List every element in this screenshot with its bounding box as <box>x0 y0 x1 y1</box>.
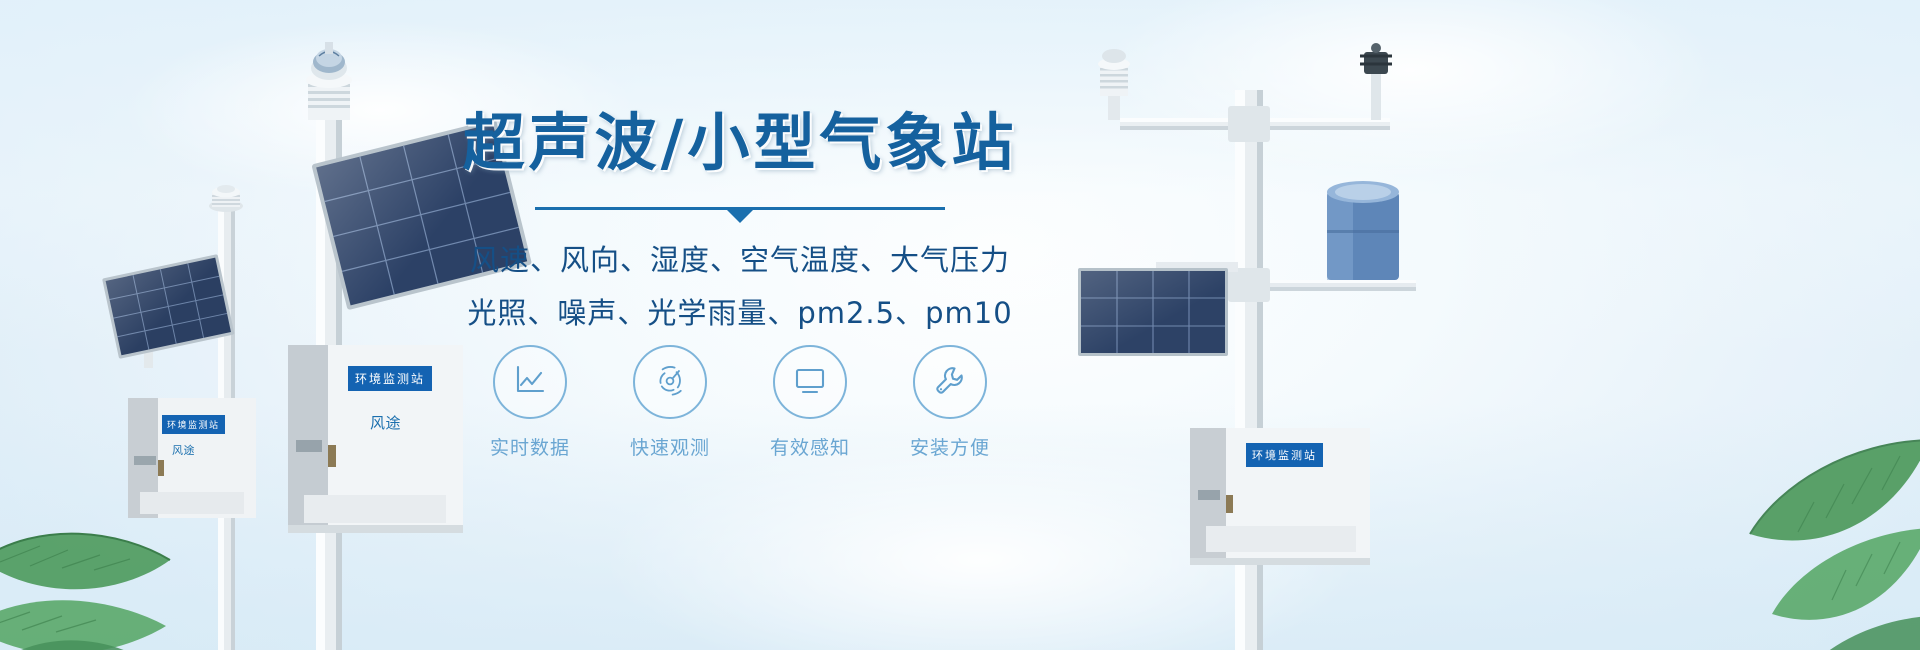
leaf-decoration-left <box>0 410 270 650</box>
product-banner: 环境监测站 风途 <box>0 0 1920 650</box>
cabinet-label: 环境监测站 <box>1246 443 1323 467</box>
feature-item-easy-installation[interactable]: 安装方便 <box>902 345 998 460</box>
weather-station-small-left: 环境监测站 风途 <box>100 170 310 650</box>
monitor-screen-icon <box>790 360 830 405</box>
cabinet-label: 环境监测站 <box>162 415 225 434</box>
feature-item-realtime-data[interactable]: 实时数据 <box>482 345 578 460</box>
subtitle-line-2: 光照、噪声、光学雨量、pm2.5、pm10 <box>440 289 1040 338</box>
feature-label: 有效感知 <box>770 433 850 460</box>
feature-icon-circle <box>773 345 847 419</box>
feature-icon-circle <box>913 345 987 419</box>
page-title: 超声波/小型气象站 <box>440 108 1040 177</box>
banner-copy: 超声波/小型气象站 风速、风向、湿度、空气温度、大气压力 光照、噪声、光学雨量、… <box>440 108 1040 338</box>
cabinet-label: 环境监测站 <box>348 366 432 391</box>
cloud-decoration <box>600 430 1360 650</box>
title-divider <box>535 207 945 210</box>
brand-label: 风途 <box>172 442 195 458</box>
weather-station-large-right: 环境监测站 <box>1060 40 1440 650</box>
cloud-decoration <box>1100 0 1720 180</box>
feature-item-fast-observation[interactable]: 快速观测 <box>622 345 718 460</box>
brand-label: 风途 <box>370 412 401 433</box>
leaf-decoration-right <box>1600 380 1920 650</box>
feature-item-effective-sensing[interactable]: 有效感知 <box>762 345 858 460</box>
feature-label: 安装方便 <box>910 433 990 460</box>
feature-icon-circle <box>493 345 567 419</box>
feature-icon-circle <box>633 345 707 419</box>
radar-sensor-icon <box>650 360 690 405</box>
subtitle-line-1: 风速、风向、湿度、空气温度、大气压力 <box>440 236 1040 285</box>
feature-list: 实时数据 快速观测 <box>440 345 1040 460</box>
line-chart-icon <box>510 360 550 405</box>
wrench-icon <box>930 360 970 405</box>
feature-label: 快速观测 <box>630 433 710 460</box>
feature-label: 实时数据 <box>490 433 570 460</box>
